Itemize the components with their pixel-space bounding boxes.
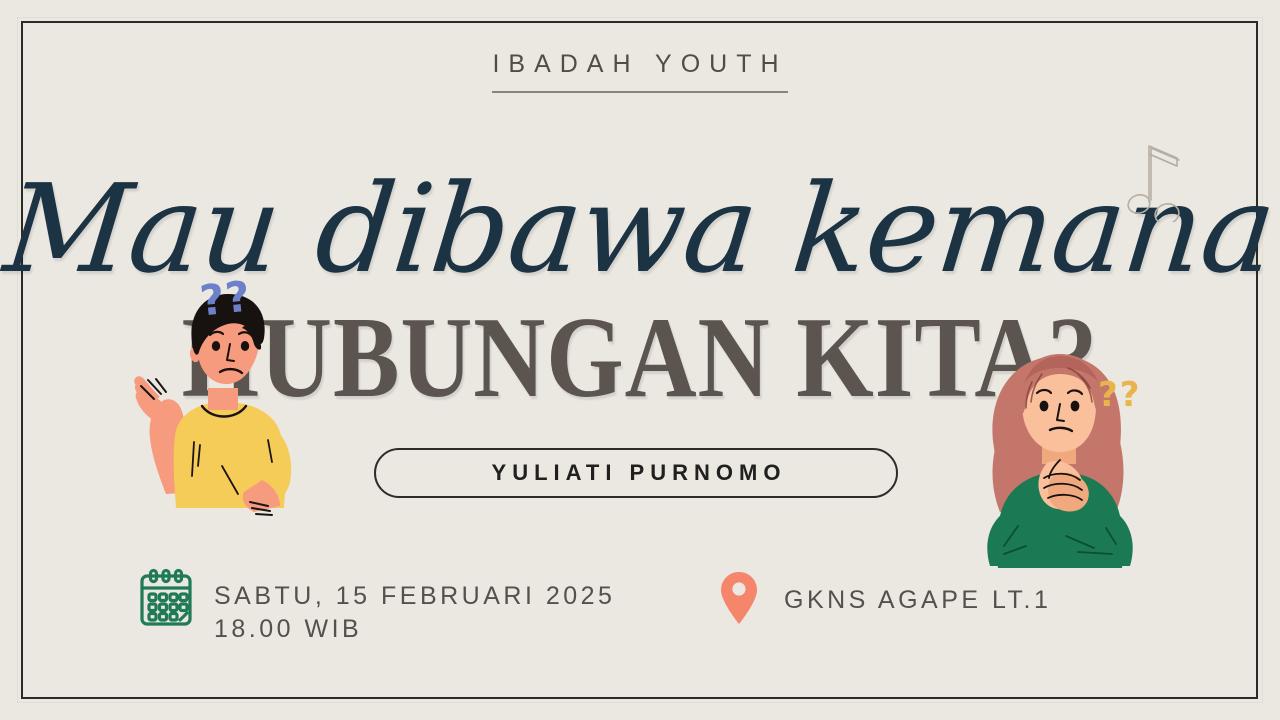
speaker-name: YULIATI PURNOMO bbox=[486, 460, 787, 486]
event-venue-item: GKNS AGAPE LT.1 bbox=[708, 568, 1051, 631]
event-venue-text: GKNS AGAPE LT.1 bbox=[784, 568, 1051, 617]
thinking-woman-illustration bbox=[960, 330, 1160, 575]
question-marks-right: ?? bbox=[1098, 378, 1141, 412]
question-marks-left: ?? bbox=[198, 275, 253, 322]
eyebrow-label: IBADAH YOUTH bbox=[492, 52, 787, 93]
event-date-item: SABTU, 15 FEBRUARI 2025 18.00 WIB bbox=[138, 568, 708, 646]
event-date-text: SABTU, 15 FEBRUARI 2025 18.00 WIB bbox=[214, 568, 615, 646]
calendar-icon bbox=[138, 568, 194, 635]
poster-canvas: IBADAH YOUTH Mau dibawa kemana HUBUNGAN … bbox=[0, 0, 1280, 720]
eyebrow-container: IBADAH YOUTH bbox=[0, 52, 1280, 93]
map-pin-icon bbox=[718, 570, 760, 631]
event-info-row: SABTU, 15 FEBRUARI 2025 18.00 WIB GKNS A… bbox=[138, 568, 1138, 646]
speaker-pill[interactable]: YULIATI PURNOMO bbox=[374, 448, 898, 498]
music-note-icon bbox=[1122, 134, 1192, 227]
